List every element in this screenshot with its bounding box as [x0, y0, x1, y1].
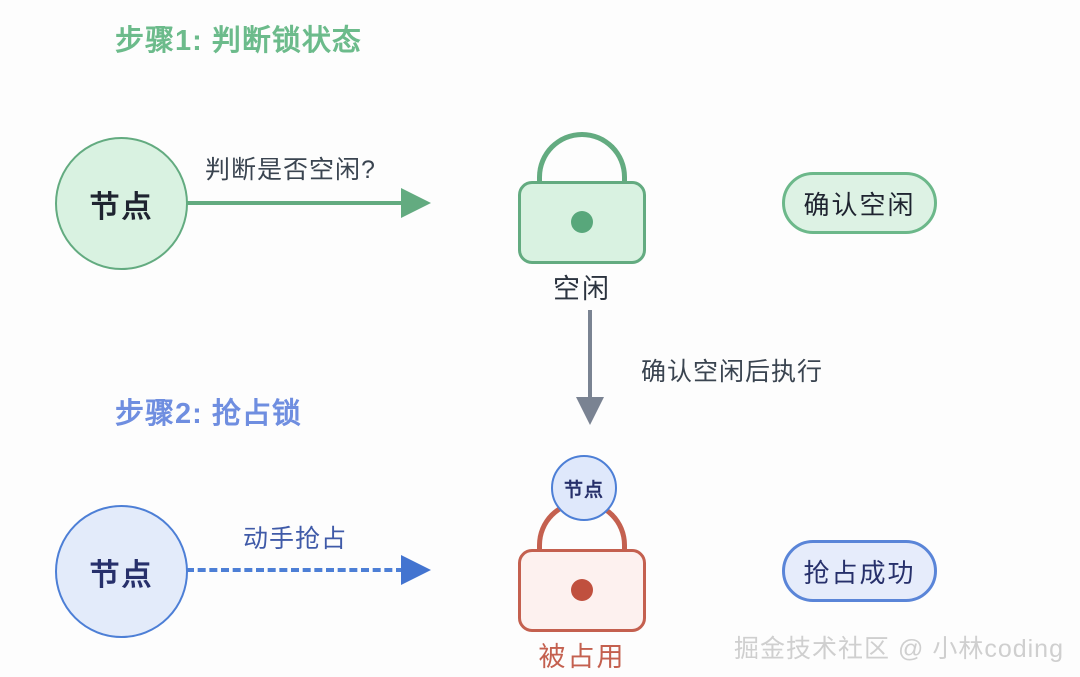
lock-unlocked-icon: 空闲 [518, 132, 646, 292]
step2-title: 步骤2: 抢占锁 [115, 390, 302, 432]
lock-keyhole-icon [571, 579, 593, 601]
arrow-head-icon [576, 397, 604, 425]
arrow-seize-dashed [186, 555, 431, 585]
arrow-shaft-dashed [186, 568, 404, 572]
arrow-label-execute-after-confirm: 确认空闲后执行 [641, 352, 823, 388]
arrow-shaft [588, 310, 592, 398]
result-pill-seize-success-label: 抢占成功 [803, 553, 915, 590]
lock-locked-icon: 被占用 [518, 500, 646, 662]
arrow-judge-solid [186, 188, 431, 218]
result-pill-confirm-free-label: 确认空闲 [803, 185, 915, 222]
result-pill-confirm-free: 确认空闲 [782, 172, 937, 234]
arrow-label-seize: 动手抢占 [243, 519, 347, 555]
node-circle-blue-label: 节点 [90, 550, 154, 594]
lock-keyhole-icon [571, 211, 593, 233]
node-badge-label: 节点 [564, 475, 604, 502]
watermark: 掘金技术社区 @ 小林coding [734, 629, 1064, 665]
arrow-label-judge: 判断是否空闲? [205, 150, 376, 186]
result-pill-seize-success: 抢占成功 [782, 540, 937, 602]
node-badge-on-lock: 节点 [551, 455, 617, 521]
arrow-head-icon [401, 188, 431, 218]
node-circle-green: 节点 [55, 137, 188, 270]
node-circle-blue: 节点 [55, 505, 188, 638]
arrow-head-icon [401, 555, 431, 585]
lock-free-caption: 空闲 [518, 267, 646, 306]
arrow-shaft [186, 201, 404, 205]
diagram-canvas: 步骤1: 判断锁状态 节点 判断是否空闲? 空闲 确认空闲 确认空闲后执行 步骤… [0, 0, 1080, 677]
step1-title: 步骤1: 判断锁状态 [115, 17, 362, 59]
node-circle-green-label: 节点 [90, 182, 154, 226]
lock-busy-caption: 被占用 [518, 635, 646, 674]
arrow-down-transition [575, 310, 605, 425]
